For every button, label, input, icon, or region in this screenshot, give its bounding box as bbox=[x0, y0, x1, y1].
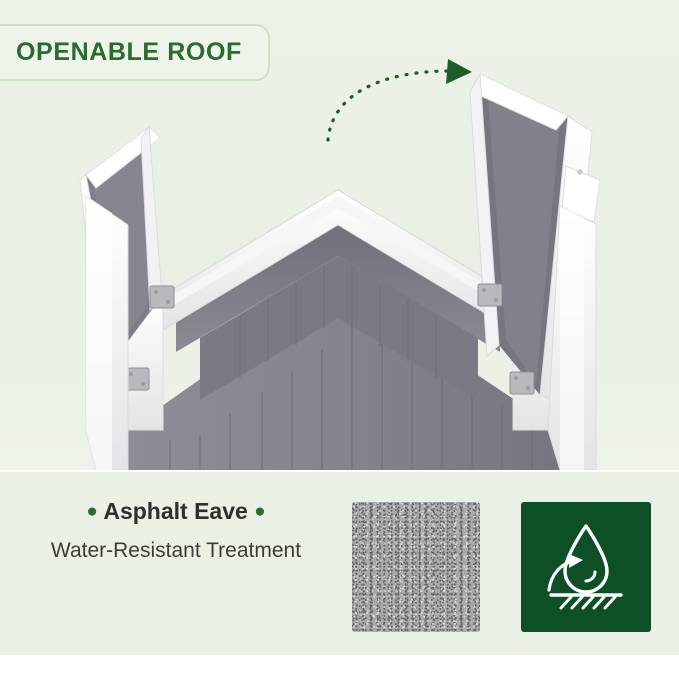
product-feature-image: OPENABLE ROOF ● Asphalt Eave ● Water-Res… bbox=[0, 0, 679, 679]
feature-title: Asphalt Eave bbox=[103, 498, 247, 524]
openable-roof-badge: OPENABLE ROOF bbox=[0, 24, 270, 81]
water-resistant-icon bbox=[521, 502, 651, 632]
water-resistant-icon-tile bbox=[521, 502, 651, 632]
asphalt-texture-swatch bbox=[352, 502, 480, 632]
feature-text-block: ● Asphalt Eave ● Water-Resistant Treatme… bbox=[0, 498, 352, 563]
dotted-curved-arrow-icon bbox=[310, 55, 490, 145]
photo-panel: OPENABLE ROOF bbox=[0, 0, 679, 470]
bullet-left-icon: ● bbox=[86, 501, 97, 522]
feature-title-row: ● Asphalt Eave ● bbox=[0, 498, 352, 525]
badge-label: OPENABLE ROOF bbox=[16, 38, 242, 66]
bottom-white-strip bbox=[0, 655, 679, 679]
feature-subtitle: Water-Resistant Treatment bbox=[0, 539, 352, 563]
bullet-right-icon: ● bbox=[254, 501, 265, 522]
